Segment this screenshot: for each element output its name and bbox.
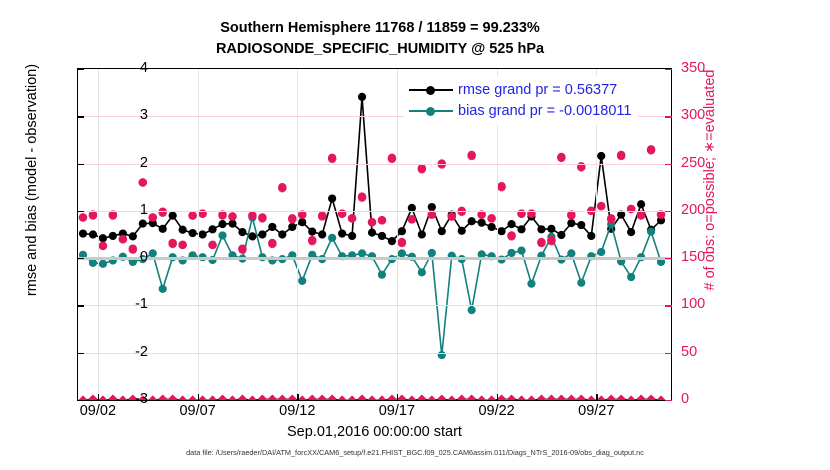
- y-axis-left-tick-label: 3: [108, 107, 148, 123]
- y-axis-right-label: # of obs: o=possible; ∗=evaluated: [702, 30, 718, 330]
- y-axis-left-tick-label: 4: [108, 60, 148, 76]
- y-axis-left-tickmark: [77, 69, 84, 70]
- y-axis-left-label: rmse and bias (model - observation): [24, 30, 40, 330]
- gridline-vertical: [297, 69, 298, 400]
- chart-title-line-2: RADIOSONDE_SPECIFIC_HUMIDITY @ 525 hPa: [0, 39, 760, 60]
- y-axis-left-tickmark: [77, 164, 84, 165]
- chart-title: Southern Hemisphere 11768 / 11859 = 99.2…: [0, 18, 760, 60]
- legend-item-rmse[interactable]: rmse grand pr = 0.56377: [409, 79, 631, 100]
- x-axis-tickmark: [297, 394, 298, 401]
- y-axis-right-tickmark: [665, 258, 672, 259]
- x-axis-tickmark: [397, 394, 398, 401]
- y-axis-left-tick-label: -2: [108, 344, 148, 360]
- y-axis-right-tickmark: [665, 69, 672, 70]
- x-axis-tick-label: 09/12: [262, 403, 332, 419]
- y-axis-left-tickmark: [77, 258, 84, 259]
- legend-swatch-rmse: [409, 83, 453, 97]
- chart-title-line-1: Southern Hemisphere 11768 / 11859 = 99.2…: [0, 18, 760, 39]
- gridline-horizontal: [78, 353, 671, 354]
- legend-swatch-bias: [409, 104, 453, 118]
- y-axis-left-tick-label: -1: [108, 296, 148, 312]
- y-axis-right-tickmark: [665, 400, 672, 401]
- gridline-vertical: [397, 69, 398, 400]
- y-axis-right-tickmark: [665, 353, 672, 354]
- y-axis-left-tick-label: 0: [108, 249, 148, 265]
- y-axis-left-tickmark: [77, 116, 84, 117]
- y-axis-left-tick-label: 1: [108, 202, 148, 218]
- legend-label-rmse: rmse grand pr = 0.56377: [458, 82, 617, 98]
- y-axis-right-tickmark: [665, 305, 672, 306]
- y-axis-left-tick-label: 2: [108, 155, 148, 171]
- x-axis-tick-label: 09/22: [462, 403, 532, 419]
- x-axis-label: Sep.01,2016 00:00:00 start: [77, 424, 672, 440]
- data-file-footer: data file: /Users/raeder/DAI/ATM_forcXX/…: [0, 448, 830, 457]
- legend-label-bias: bias grand pr = -0.0018011: [458, 103, 631, 119]
- figure-root: Southern Hemisphere 11768 / 11859 = 99.2…: [0, 0, 830, 470]
- gridline-vertical: [198, 69, 199, 400]
- x-axis-tick-label: 09/17: [362, 403, 432, 419]
- x-axis-tick-label: 09/27: [561, 403, 631, 419]
- gridline-vertical: [98, 69, 99, 400]
- y-axis-left-tickmark: [77, 400, 84, 401]
- x-axis-tickmark: [98, 394, 99, 401]
- y-axis-left-tickmark: [77, 305, 84, 306]
- y-axis-right-tickmark: [665, 164, 672, 165]
- y-axis-right-tickmark: [665, 116, 672, 117]
- y-axis-left-tickmark: [77, 353, 84, 354]
- x-axis-tickmark: [497, 394, 498, 401]
- x-axis-tick-label: 09/07: [163, 403, 233, 419]
- gridline-horizontal: [78, 211, 671, 212]
- x-axis-tickmark: [198, 394, 199, 401]
- gridline-horizontal: [78, 305, 671, 306]
- y-axis-right-tick-label: 0: [681, 391, 727, 407]
- x-axis-tick-label: 09/02: [63, 403, 133, 419]
- x-axis-tickmark: [596, 394, 597, 401]
- legend-item-bias[interactable]: bias grand pr = -0.0018011: [409, 100, 631, 121]
- legend[interactable]: rmse grand pr = 0.56377 bias grand pr = …: [404, 76, 638, 125]
- y-axis-right-tickmark: [665, 211, 672, 212]
- y-axis-right-tick-label: 50: [681, 344, 727, 360]
- y-axis-left-tickmark: [77, 211, 84, 212]
- zero-reference-line: [78, 257, 671, 260]
- gridline-horizontal: [78, 164, 671, 165]
